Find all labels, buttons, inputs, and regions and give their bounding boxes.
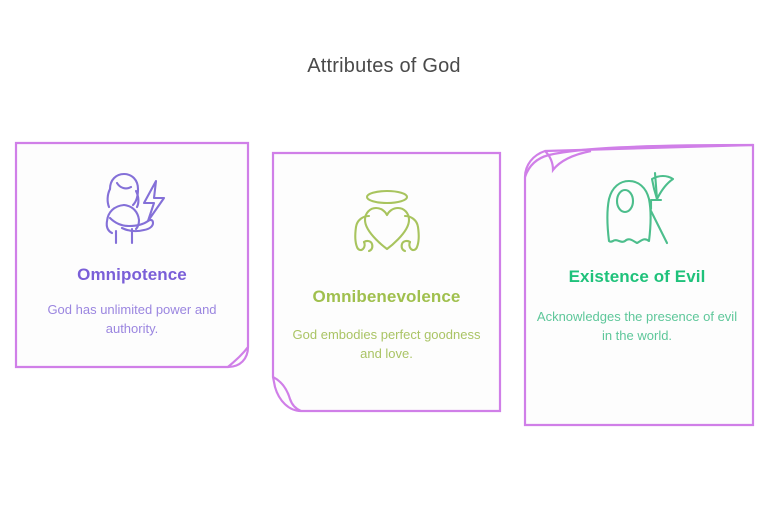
card-evil-body: Acknowledges the presence of evil in the… [519,307,755,345]
card-omnibenevolence-heading: Omnibenevolence [303,287,471,308]
card-omnibenevolence-body: God embodies perfect goodness and love. [271,325,502,363]
winged-heart-with-halo-icon [341,186,433,260]
card-omnibenevolence[interactable]: Omnibenevolence God embodies perfect goo… [271,151,502,413]
person-with-lightning-bolt-icon [84,169,180,245]
card-evil-heading: Existence of Evil [559,267,716,288]
attribute-cards-row: Omnipotence God has unlimited power and … [0,0,768,512]
card-omnipotence-body: God has unlimited power and authority. [14,300,250,338]
card-omnipotence[interactable]: Omnipotence God has unlimited power and … [14,141,250,369]
card-omnipotence-heading: Omnipotence [67,265,197,286]
grim-reaper-with-scythe-icon [595,169,679,247]
card-evil[interactable]: Existence of Evil Acknowledges the prese… [519,141,755,427]
